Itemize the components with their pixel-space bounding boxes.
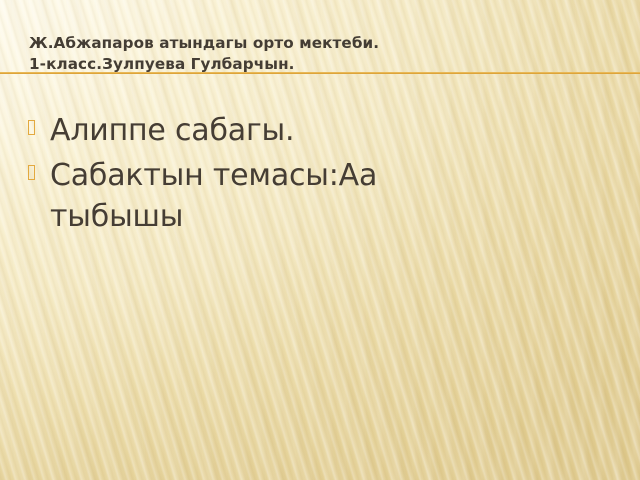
bullet-text: Сабактын темасы:Аа тыбышы	[50, 155, 480, 237]
slide-body-bullet-list: Алиппе сабагы. Сабактын темасы:Аа тыбышы	[28, 110, 588, 241]
notdef-box-bullet-icon	[28, 155, 50, 180]
title-line-1: Ж.Абжапаров атындагы орто мектеби.	[29, 33, 619, 54]
bullet-text: Алиппе сабагы.	[50, 110, 480, 151]
slide-content: Ж.Абжапаров атындагы орто мектеби. 1-кла…	[0, 0, 640, 480]
presentation-slide: Ж.Абжапаров атындагы орто мектеби. 1-кла…	[0, 0, 640, 480]
notdef-box-bullet-icon	[28, 110, 50, 135]
list-item: Сабактын темасы:Аа тыбышы	[28, 155, 588, 237]
list-item: Алиппе сабагы.	[28, 110, 588, 151]
title-line-2: 1-класс.Зулпуева Гулбарчын.	[29, 54, 619, 75]
slide-title: Ж.Абжапаров атындагы орто мектеби. 1-кла…	[29, 33, 619, 75]
